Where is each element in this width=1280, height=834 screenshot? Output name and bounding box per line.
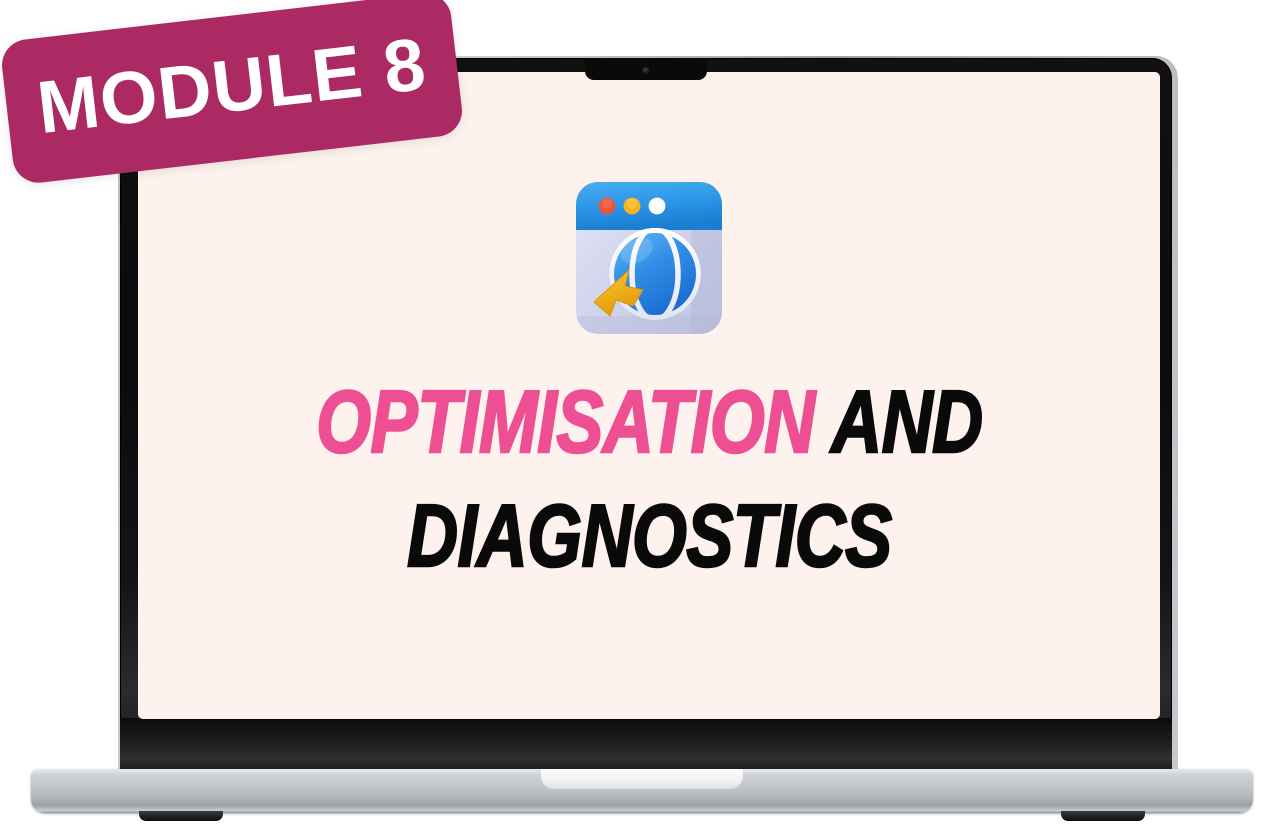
laptop-base [31, 769, 1253, 813]
slide-title-highlight: OPTIMISATION [316, 372, 814, 471]
slide-title-line1-rest: AND [831, 372, 982, 471]
dot-white [649, 198, 666, 215]
laptop-bottom-bezel [120, 718, 1172, 776]
laptop-foot-right [1061, 811, 1145, 821]
laptop-base-lip [541, 769, 743, 789]
slide-title-line-2: DIAGNOSTICS [316, 492, 982, 580]
slide-stage: OPTIMISATION AND DIAGNOSTICS MODULE 8 [0, 0, 1280, 834]
laptop-foot-left [139, 811, 223, 821]
camera-icon [643, 67, 650, 74]
browser-globe-cursor-icon [567, 176, 731, 344]
laptop-screen: OPTIMISATION AND DIAGNOSTICS [138, 72, 1160, 719]
slide-title: OPTIMISATION AND DIAGNOSTICS [233, 378, 1066, 580]
module-badge-label: MODULE 8 [34, 27, 431, 149]
slide-title-line-1: OPTIMISATION AND [316, 378, 982, 466]
